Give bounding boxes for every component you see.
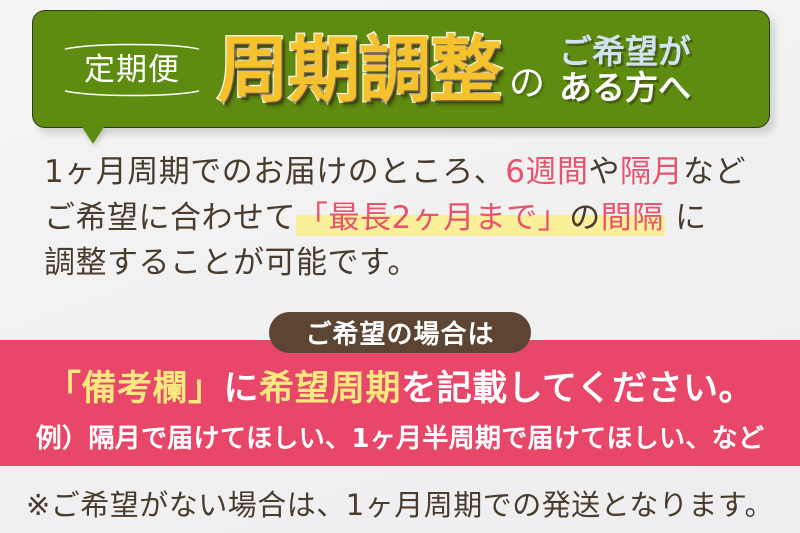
body-line-1: 1ヶ月周期でのお届けのところ、6週間や隔月など xyxy=(44,150,774,196)
body-line-2-post: に xyxy=(665,200,707,236)
header-title: 周期調整の xyxy=(217,34,545,106)
promo-banner: 定期便 周期調整の ご希望が ある方へ 1ヶ月周期でのお届けのところ、6週間や隔… xyxy=(0,0,800,533)
pink-headline-emphasis-2: 希望周期 xyxy=(259,369,401,409)
header-title-text: 周期調整 xyxy=(217,28,501,112)
pink-section-example: 例）隔月で届けてほしい、1ヶ月半周期で届けてほしい、など xyxy=(0,418,800,455)
body-line-2-highlight: 「最長2ヶ月まで」の間隔 xyxy=(296,200,665,236)
footnote: ※ご希望がない場合は、1ヶ月周期での発送となります。 xyxy=(0,482,800,524)
pink-headline-post: を記載してください。 xyxy=(401,369,754,409)
header-bubble: 定期便 周期調整の ご希望が ある方へ xyxy=(32,10,770,128)
subscription-tag: 定期便 xyxy=(61,42,203,99)
subscription-tag-label: 定期便 xyxy=(84,54,180,87)
pink-headline-mid: に xyxy=(224,369,260,409)
body-copy: 1ヶ月周期でのお届けのところ、6週間や隔月など ご希望に合わせて「最長2ヶ月まで… xyxy=(44,150,774,287)
body-line-2-highlight-pink-1: 「最長2ヶ月まで」 xyxy=(297,200,569,236)
body-line-2-highlight-dark: の xyxy=(569,200,601,236)
body-line-1-mid: や xyxy=(588,154,620,190)
pink-headline-emphasis-1: 「備考欄」 xyxy=(46,369,224,409)
request-badge-label: ご希望の場合は xyxy=(305,314,494,351)
body-line-1-emphasis-1: 6週間 xyxy=(505,154,588,190)
body-line-2: ご希望に合わせて「最長2ヶ月まで」の間隔 に xyxy=(44,196,774,242)
header-subtitle-line-1: ご希望が xyxy=(559,34,691,70)
body-line-1-post: など xyxy=(683,154,746,190)
body-line-1-pre: 1ヶ月周期でのお届けのところ、 xyxy=(44,154,505,190)
request-badge: ご希望の場合は xyxy=(269,312,531,353)
pink-section-headline: 「備考欄」に希望周期を記載してください。 xyxy=(0,360,800,411)
wavy-rule-top-icon xyxy=(64,42,200,51)
body-line-3: 調整することが可能です。 xyxy=(44,241,774,287)
header-subtitle-line-2: ある方へ xyxy=(559,70,691,106)
header-inner: 定期便 周期調整の ご希望が ある方へ xyxy=(33,11,771,129)
bubble-tail-icon xyxy=(82,127,104,144)
header-subtitle: ご希望が ある方へ xyxy=(559,34,691,105)
wavy-rule-bottom-icon xyxy=(64,89,200,98)
body-line-1-emphasis-2: 隔月 xyxy=(620,154,683,190)
body-line-2-highlight-pink-2: 間隔 xyxy=(601,200,664,236)
header-title-particle: の xyxy=(509,63,545,104)
body-line-2-pre: ご希望に合わせて xyxy=(44,200,296,236)
